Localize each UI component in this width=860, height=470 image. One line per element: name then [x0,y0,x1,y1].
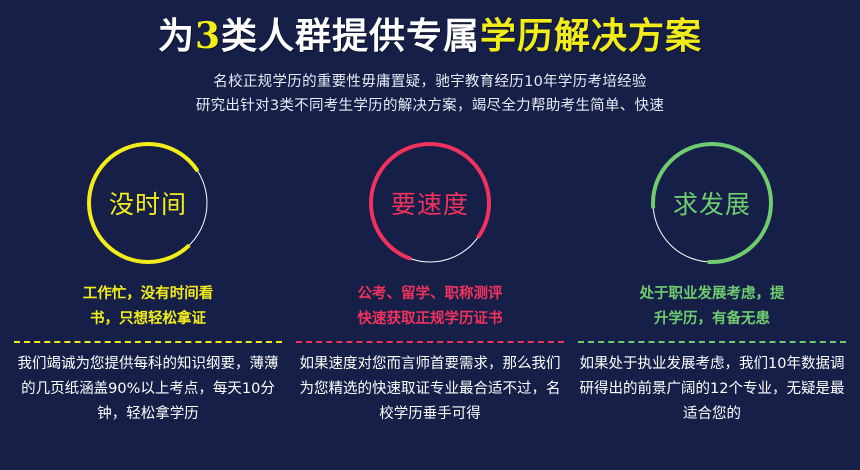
promo-banner: 为3类人群提供专属学历解决方案 名校正规学历的重要性毋庸置疑，驰宇教育经历10年… [0,0,860,470]
circle-badge-seek-growth: 求发展 [649,140,775,266]
highlight-line-2: 快速获取正规学历证书 [296,307,564,332]
highlight-need-speed: 公考、留学、职称测评 快速获取正规学历证书 [296,282,564,332]
circle-badge-no-time: 没时间 [85,140,211,266]
highlight-line-1: 工作忙，没有时间看 [14,282,282,307]
circle-label-no-time: 没时间 [85,140,211,266]
circle-badge-need-speed: 要速度 [367,140,493,266]
title-segment-4: 学历解决方案 [480,15,702,57]
highlight-line-1: 公考、留学、职称测评 [296,282,564,307]
highlight-no-time: 工作忙，没有时间看 书，只想轻松拿证 [14,282,282,332]
feature-column-seek-growth: 求发展 处于职业发展考虑，提 升学历，有备无患 如果处于执业发展考虑，我们10年… [572,140,852,427]
title-segment-3: 类人群提供专属 [221,15,480,57]
highlight-line-2: 升学历，有备无患 [578,307,846,332]
banner-header: 为3类人群提供专属学历解决方案 名校正规学历的重要性毋庸置疑，驰宇教育经历10年… [0,0,860,118]
subtitle-line-2: 研究出针对3类不同考生学历的解决方案，竭尽全力帮助考生简单、快速 [0,94,860,118]
banner-subtitle: 名校正规学历的重要性毋庸置疑，驰宇教育经历10年学历考培经验 研究出针对3类不同… [0,70,860,118]
highlight-line-2: 书，只想轻松拿证 [14,307,282,332]
feature-column-no-time: 没时间 工作忙，没有时间看 书，只想轻松拿证 我们竭诚为您提供每科的知识纲要，薄… [8,140,288,427]
detail-need-speed: 如果速度对您而言师首要需求，那么我们为您精选的快速取证专业最合适不过，名校学历垂… [296,341,564,427]
highlight-seek-growth: 处于职业发展考虑，提 升学历，有备无患 [578,282,846,332]
page-title: 为3类人群提供专属学历解决方案 [0,14,860,58]
highlight-line-1: 处于职业发展考虑，提 [578,282,846,307]
title-segment-2: 3 [195,15,221,57]
detail-no-time: 我们竭诚为您提供每科的知识纲要，薄薄的几页纸涵盖90%以上考点，每天10分钟，轻… [14,341,282,427]
circle-label-need-speed: 要速度 [367,140,493,266]
subtitle-line-1: 名校正规学历的重要性毋庸置疑，驰宇教育经历10年学历考培经验 [0,70,860,94]
title-segment-1: 为 [158,15,195,57]
feature-columns: 没时间 工作忙，没有时间看 书，只想轻松拿证 我们竭诚为您提供每科的知识纲要，薄… [0,140,860,427]
feature-column-need-speed: 要速度 公考、留学、职称测评 快速获取正规学历证书 如果速度对您而言师首要需求，… [290,140,570,427]
circle-label-seek-growth: 求发展 [649,140,775,266]
detail-seek-growth: 如果处于执业发展考虑，我们10年数据调研得出的前景广阔的12个专业，无疑是最适合… [578,341,846,427]
